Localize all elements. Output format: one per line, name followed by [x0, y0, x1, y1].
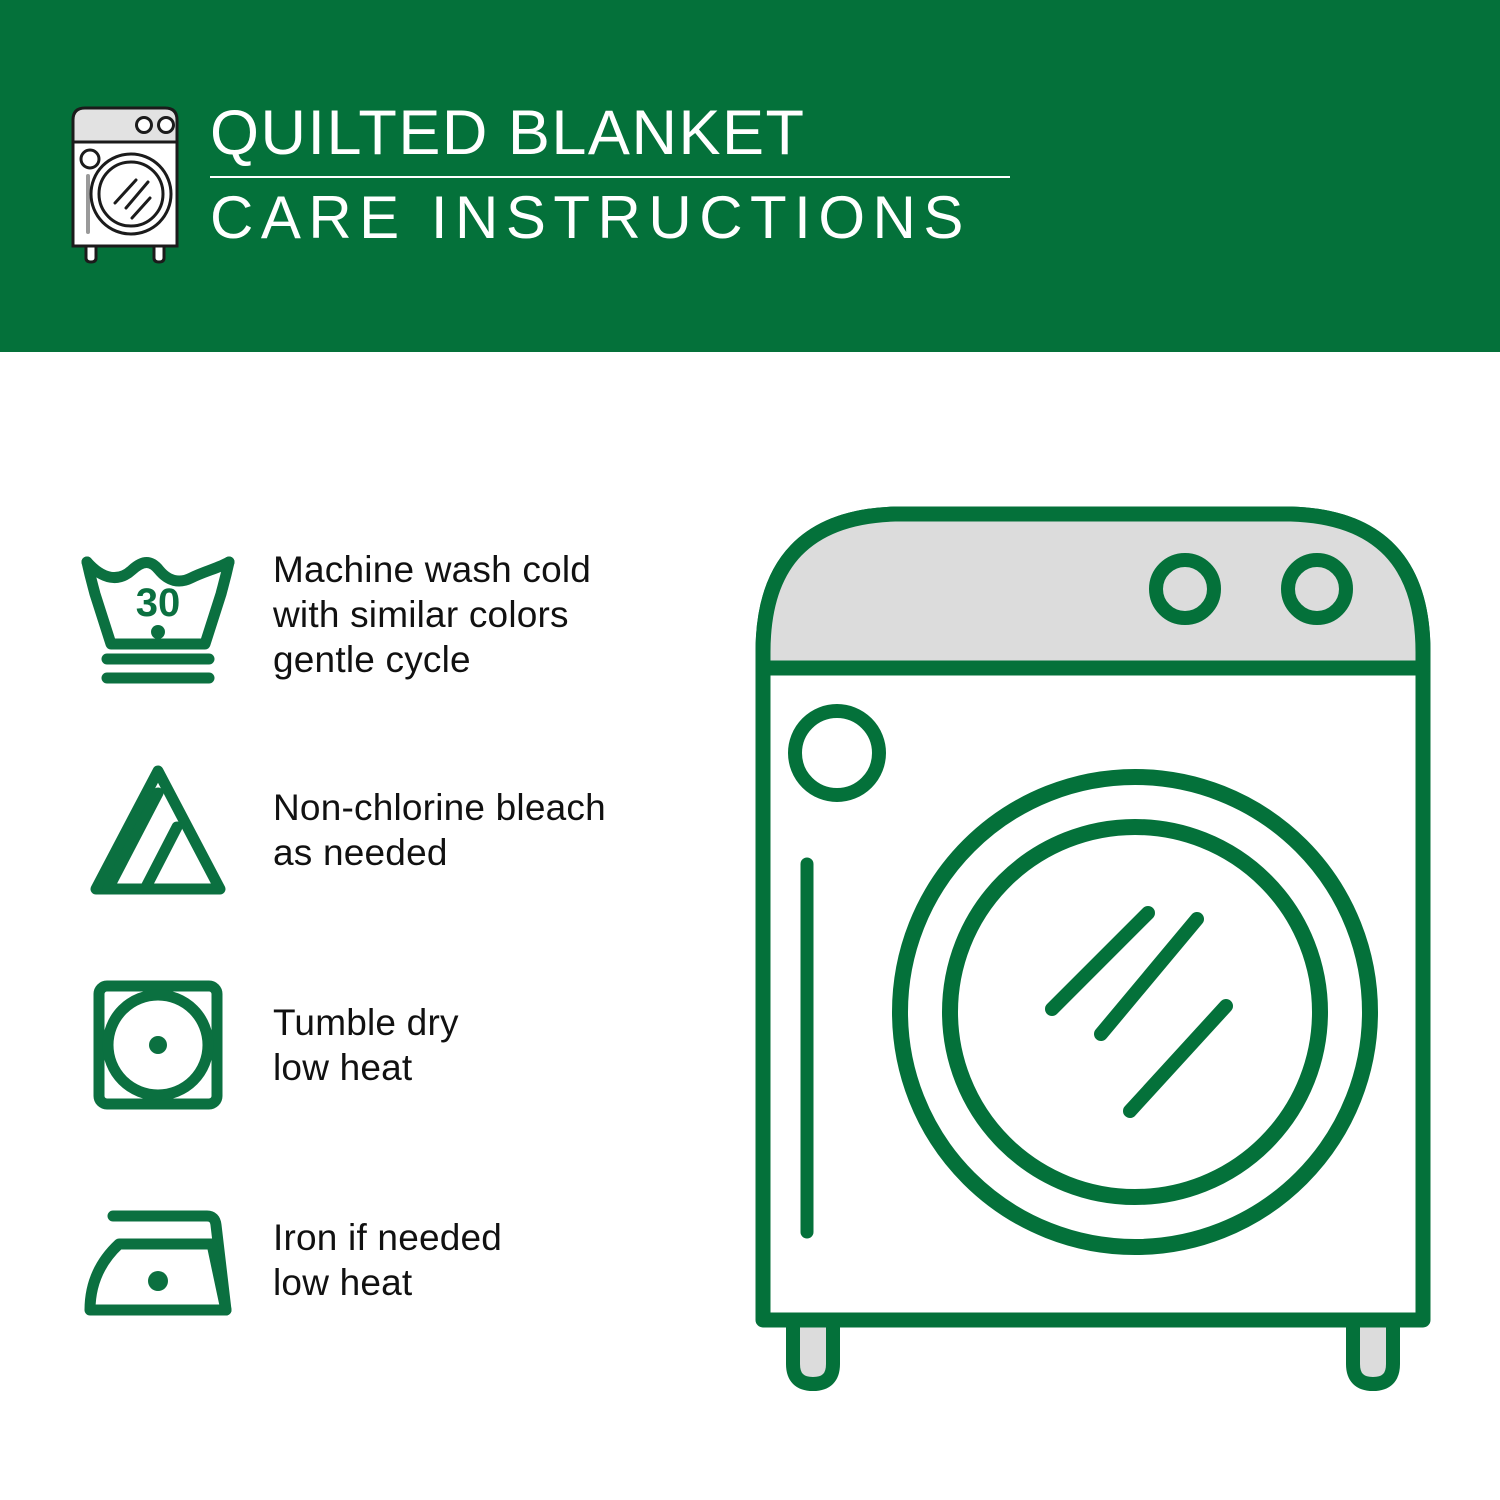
wash-tub-30-gentle-icon: 30 [70, 535, 245, 695]
iron-low-heat-icon [70, 1180, 245, 1340]
page-title: QUILTED BLANKET [210, 100, 1010, 166]
care-label: Non-chlorine bleach as needed [273, 785, 606, 875]
care-row: 30 Machine wash cold with similar colors… [70, 507, 730, 722]
tumble-dry-low-heat-icon [70, 965, 245, 1125]
care-row: Non-chlorine bleach as needed [70, 722, 730, 937]
care-instruction-list: 30 Machine wash cold with similar colors… [70, 507, 730, 1367]
care-label-line: low heat [273, 1260, 502, 1305]
header-band: QUILTED BLANKET CARE INSTRUCTIONS [0, 0, 1500, 352]
washing-machine-icon [62, 96, 192, 264]
front-load-washing-machine-illustration [745, 492, 1455, 1422]
wash-temperature-value: 30 [135, 581, 180, 625]
non-chlorine-bleach-triangle-icon [70, 750, 245, 910]
care-label-line: as needed [273, 830, 606, 875]
care-label-line: with similar colors [273, 592, 591, 637]
care-label-line: Machine wash cold [273, 547, 591, 592]
care-label: Iron if needed low heat [273, 1215, 502, 1305]
page-subtitle: CARE INSTRUCTIONS [210, 186, 1010, 250]
care-row: Iron if needed low heat [70, 1152, 730, 1367]
care-row: Tumble dry low heat [70, 937, 730, 1152]
header-content: QUILTED BLANKET CARE INSTRUCTIONS [62, 96, 1010, 264]
care-label-line: gentle cycle [273, 637, 591, 682]
header-titles: QUILTED BLANKET CARE INSTRUCTIONS [210, 96, 1010, 250]
content-area: 30 Machine wash cold with similar colors… [0, 352, 1500, 1500]
title-divider [210, 176, 1010, 178]
care-label-line: Tumble dry [273, 1000, 459, 1045]
care-label-line: Iron if needed [273, 1215, 502, 1260]
care-label: Tumble dry low heat [273, 1000, 459, 1090]
care-label-line: Non-chlorine bleach [273, 785, 606, 830]
care-label: Machine wash cold with similar colors ge… [273, 547, 591, 682]
care-label-line: low heat [273, 1045, 459, 1090]
